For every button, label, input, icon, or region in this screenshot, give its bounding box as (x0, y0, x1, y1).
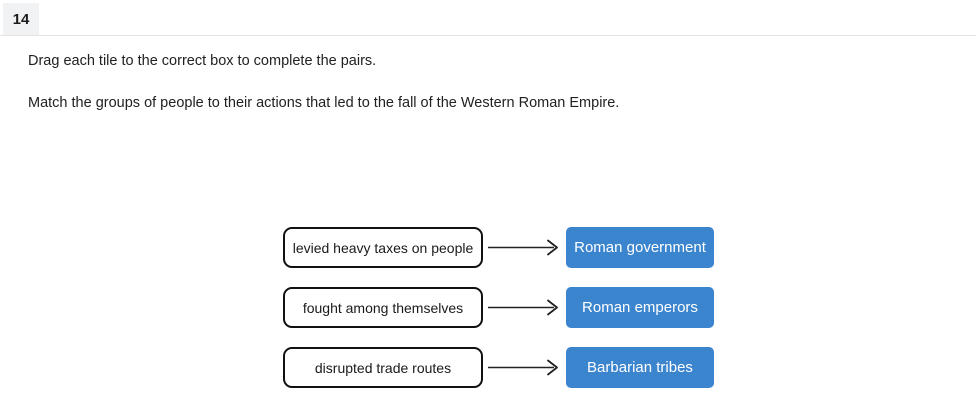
question-header: 14 (0, 0, 976, 36)
question-number-label: 14 (13, 12, 30, 27)
header-divider (0, 35, 976, 36)
drop-target-box[interactable]: Roman government (566, 227, 714, 268)
arrow-right-icon (486, 287, 566, 328)
target-label: Roman government (574, 240, 706, 255)
tile-label: levied heavy taxes on people (293, 241, 474, 255)
arrow-right-icon (486, 347, 566, 388)
draggable-tile[interactable]: levied heavy taxes on people (283, 227, 483, 268)
draggable-tile[interactable]: disrupted trade routes (283, 347, 483, 388)
arrow-connector (486, 287, 566, 328)
arrow-connector (486, 227, 566, 268)
tile-label: fought among themselves (303, 301, 463, 315)
matching-area: levied heavy taxes on people Roman gover… (283, 227, 715, 388)
drop-target-box[interactable]: Roman emperors (566, 287, 714, 328)
target-label: Barbarian tribes (587, 360, 693, 375)
drop-target-box[interactable]: Barbarian tribes (566, 347, 714, 388)
target-label: Roman emperors (582, 300, 698, 315)
match-row: levied heavy taxes on people Roman gover… (283, 227, 715, 268)
match-row: disrupted trade routes Barbarian tribes (283, 347, 715, 388)
tile-label: disrupted trade routes (315, 361, 451, 375)
match-row: fought among themselves Roman emperors (283, 287, 715, 328)
arrow-connector (486, 347, 566, 388)
question-number-tab[interactable]: 14 (3, 3, 39, 35)
draggable-tile[interactable]: fought among themselves (283, 287, 483, 328)
instruction-drag-tiles: Drag each tile to the correct box to com… (28, 48, 928, 74)
instructions-block: Drag each tile to the correct box to com… (28, 48, 928, 116)
instruction-prompt: Match the groups of people to their acti… (28, 90, 928, 116)
arrow-right-icon (486, 227, 566, 268)
